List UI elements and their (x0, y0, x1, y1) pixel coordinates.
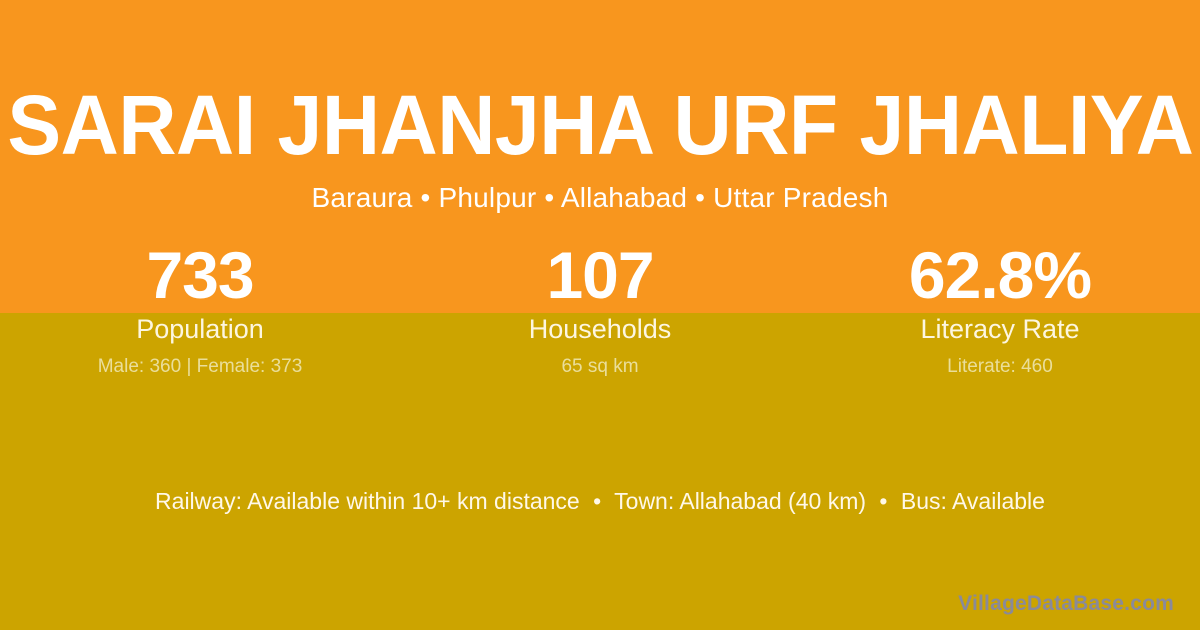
page-title: SARAI JHANJHA URF JHALIYA (7, 86, 1193, 166)
stat-label-literacy-rate: Literacy Rate (800, 312, 1200, 346)
stat-card-population: 733 Population Male: 360 | Female: 373 (0, 240, 400, 390)
stat-value-literacy-rate: 62.8% (800, 240, 1200, 310)
stat-label-households: Households (400, 312, 800, 346)
stat-sub-literacy-rate: Literate: 460 (800, 354, 1200, 380)
stat-value-population: 733 (0, 240, 400, 310)
stat-label-population: Population (0, 312, 400, 346)
stat-sub-households: 65 sq km (400, 354, 800, 380)
stat-sub-population: Male: 360 | Female: 373 (0, 354, 400, 380)
breadcrumb: Baraura • Phulpur • Allahabad • Uttar Pr… (0, 182, 1200, 214)
stat-card-literacy-rate: 62.8% Literacy Rate Literate: 460 (800, 240, 1200, 390)
facility-railway: Railway: Available within 10+ km distanc… (155, 488, 580, 514)
facility-separator-1: • (586, 488, 608, 514)
page-title-container: SARAI JHANJHA URF JHALIYA (0, 78, 1200, 174)
facilities-line: Railway: Available within 10+ km distanc… (0, 486, 1200, 516)
facility-separator-2: • (872, 488, 894, 514)
stat-card-households: 107 Households 65 sq km (400, 240, 800, 390)
site-brand-watermark: VillageDataBase.com (958, 592, 1174, 616)
stat-value-households: 107 (400, 240, 800, 310)
stats-row: 733 Population Male: 360 | Female: 373 1… (0, 240, 1200, 390)
facility-town: Town: Allahabad (40 km) (614, 488, 866, 514)
facility-bus: Bus: Available (901, 488, 1045, 514)
village-info-card: SARAI JHANJHA URF JHALIYA Baraura • Phul… (0, 0, 1200, 630)
